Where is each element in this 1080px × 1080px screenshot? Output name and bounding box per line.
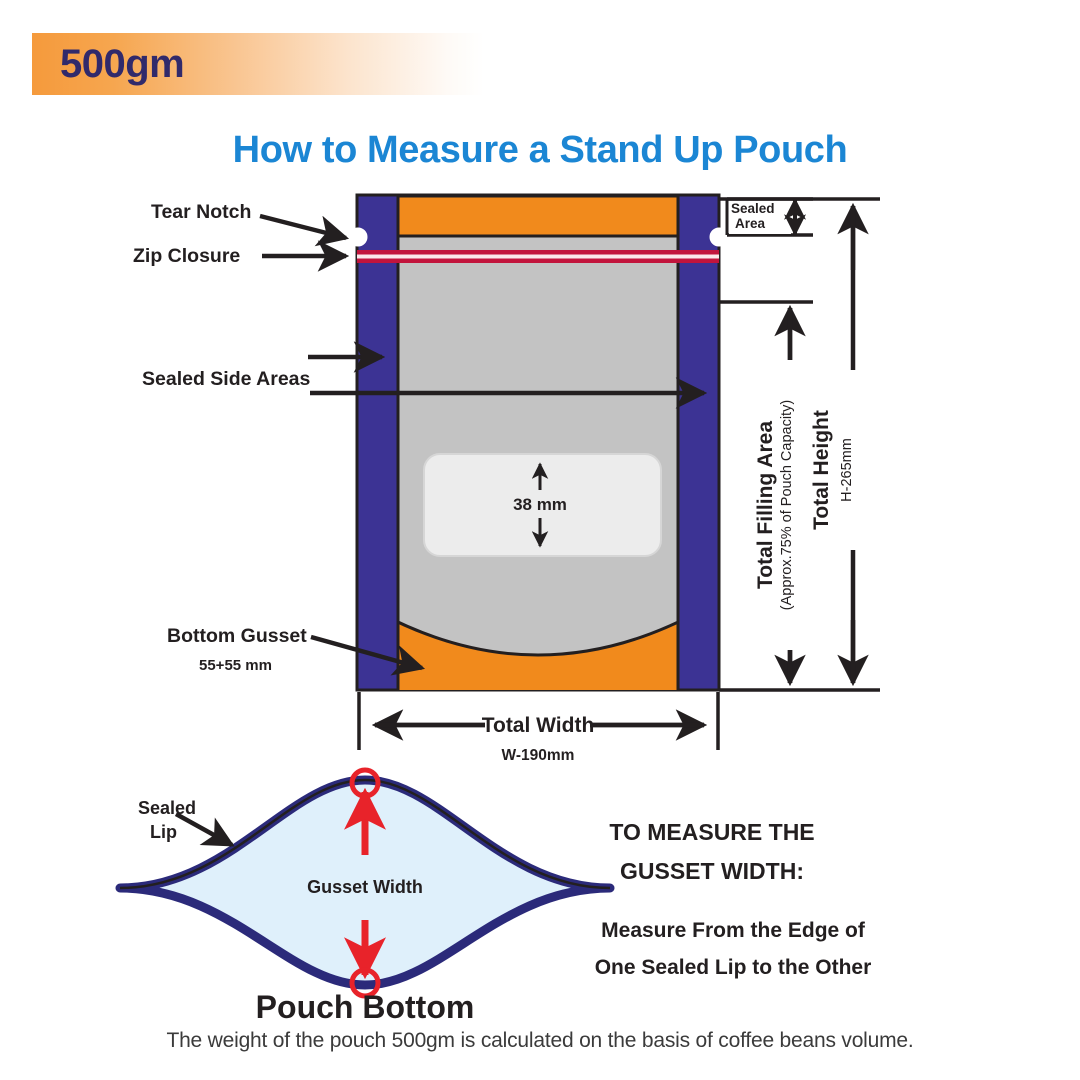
total-filling-area-dimension: Total Filling Area (Approx.75% of Pouch … [748,308,795,683]
tear-notch-left-icon [349,228,367,246]
sealed-lip-leader [176,814,232,845]
sealed-side-right [678,195,719,690]
tear-notch-leader [260,216,346,238]
total-width-label: Total Width [482,714,595,737]
total-filling-area-label: Total Filling Area [754,421,777,589]
diagram-svg: 38 mm Tear Notch Zip Closure Sealed Side… [0,180,1080,1060]
page-title: How to Measure a Stand Up Pouch [0,129,1080,172]
sealed-area-label-line1: Sealed [731,201,775,216]
bottom-gusset-label: Bottom Gusset [167,625,307,647]
bottom-gusset-value: 55+55 mm [199,657,272,674]
instructions-body-line2: One Sealed Lip to the Other [595,956,872,979]
infographic-canvas: 500gm How to Measure a Stand Up Pouch [0,0,1080,1080]
weight-badge-label: 500gm [60,41,184,87]
zip-closure-label: Zip Closure [133,245,240,267]
instructions-heading-line2: GUSSET WIDTH: [620,858,804,884]
tear-notch-label: Tear Notch [151,201,251,223]
pouch-bottom-label: Pouch Bottom [256,989,475,1025]
total-height-label: Total Height [810,410,833,530]
gusset-instructions: TO MEASURE THE GUSSET WIDTH: Measure Fro… [595,819,872,979]
gusset-illustration: Gusset Width Sealed Lip Pouch Bottom [120,770,610,1025]
sealed-area-label-line2: Area [735,216,766,231]
footer-note: The weight of the pouch 500gm is calcula… [0,1029,1080,1053]
sealed-lip-label-line1: Sealed [138,798,196,818]
total-width-dimension: Total Width W-190mm [359,692,718,764]
instructions-heading-line1: TO MEASURE THE [609,819,814,845]
total-height-value: H-265mm [839,438,855,502]
total-height-dimension: Total Height H-265mm [810,206,856,683]
pouch-top-strip [398,196,678,236]
total-filling-area-note: (Approx.75% of Pouch Capacity) [779,400,795,610]
gusset-width-label: Gusset Width [307,877,423,897]
pouch-illustration: 38 mm [349,195,728,692]
instructions-body-line1: Measure From the Edge of [601,919,866,942]
valve-size-label: 38 mm [513,495,567,514]
sealed-lip-label-line2: Lip [150,822,177,842]
sealed-side-areas-label: Sealed Side Areas [142,368,311,390]
sealed-area-callout: Sealed Area [727,199,813,235]
sealed-side-left [357,195,398,690]
zip-closure-line [357,250,719,263]
tear-notch-right-icon [710,228,728,246]
total-width-value: W-190mm [502,747,575,764]
